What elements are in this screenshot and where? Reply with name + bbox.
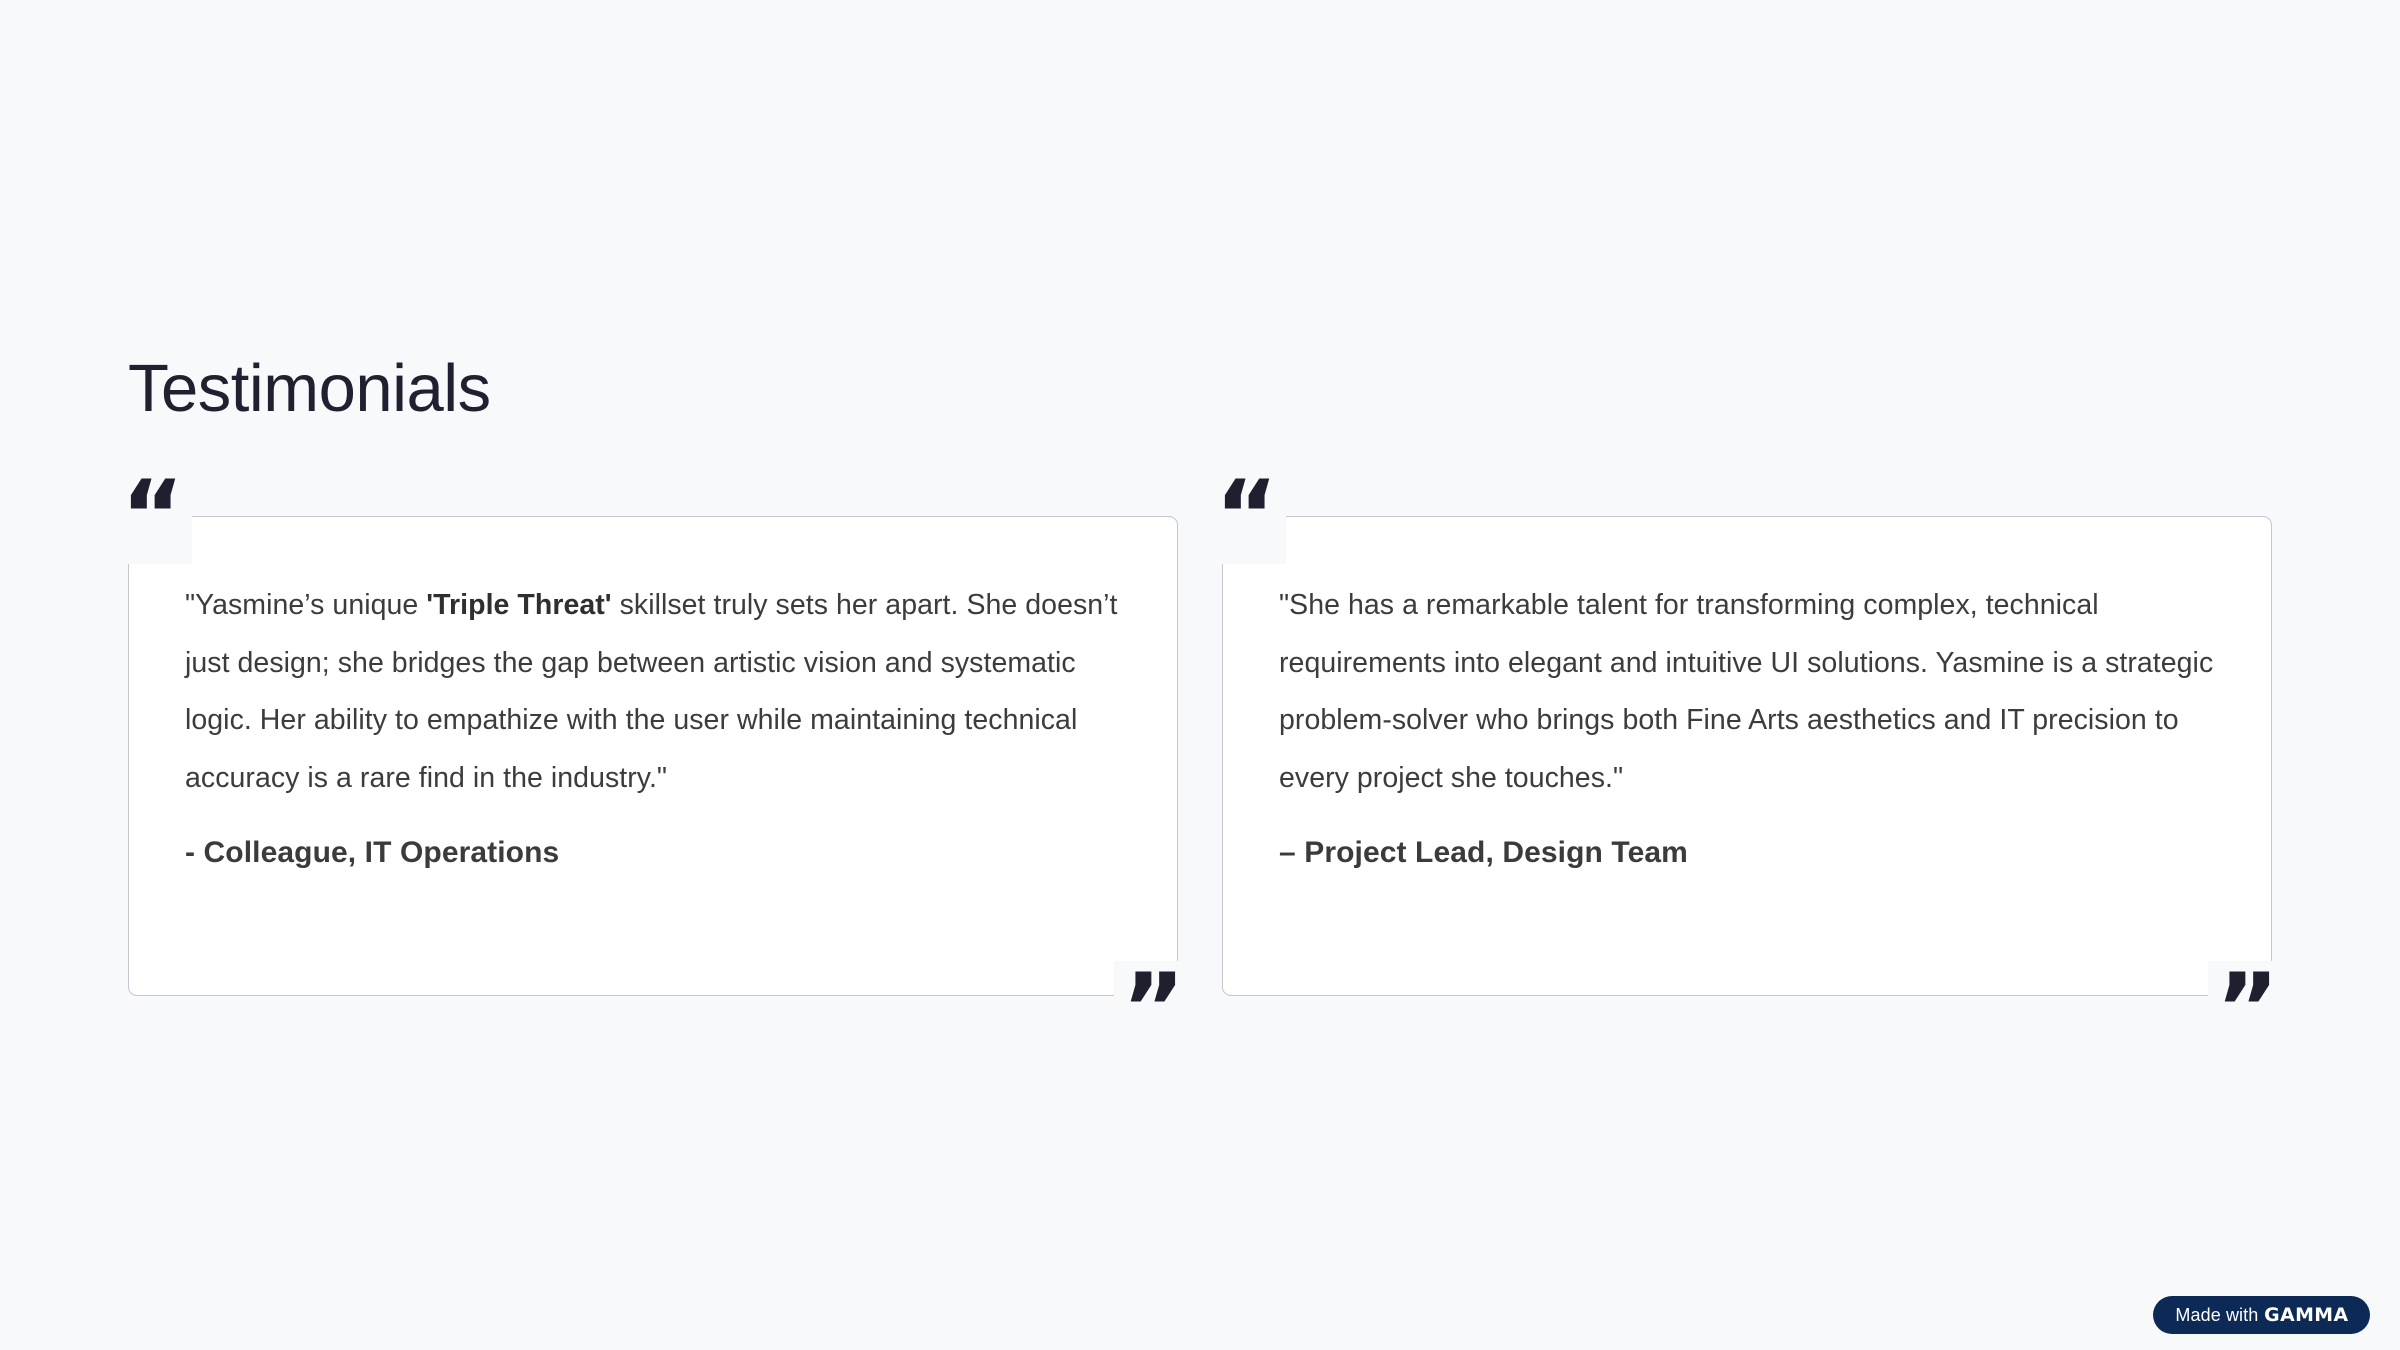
gamma-wordmark: GAMMA <box>2265 1305 2349 1326</box>
page-title: Testimonials <box>128 350 491 427</box>
quote-text-prefix: "Yasmine’s unique <box>185 589 426 621</box>
testimonial-card[interactable]: “ "Yasmine’s unique 'Triple Threat' skil… <box>128 516 1178 996</box>
slide-canvas: Testimonials “ "Yasmine’s unique 'Triple… <box>0 0 2400 1350</box>
close-quote-icon: ” <box>2208 961 2285 1057</box>
made-with-label: Made with <box>2175 1305 2258 1326</box>
close-quote-icon: ” <box>1114 961 1191 1057</box>
testimonial-quote: "She has a remarkable talent for transfo… <box>1279 577 2215 807</box>
quote-text-highlight: 'Triple Threat' <box>426 589 611 621</box>
quote-text-prefix: "She has a remarkable talent for transfo… <box>1279 589 2213 794</box>
testimonial-attribution: - Colleague, IT Operations <box>185 836 1121 870</box>
testimonial-attribution: – Project Lead, Design Team <box>1279 836 2215 870</box>
open-quote-icon: “ <box>115 468 192 564</box>
testimonial-quote: "Yasmine’s unique 'Triple Threat' skills… <box>185 577 1121 807</box>
open-quote-icon: “ <box>1209 468 1286 564</box>
made-with-gamma-badge[interactable]: Made with GAMMA <box>2153 1296 2370 1334</box>
testimonial-card-row: “ "Yasmine’s unique 'Triple Threat' skil… <box>128 516 2272 996</box>
testimonial-card[interactable]: “ "She has a remarkable talent for trans… <box>1222 516 2272 996</box>
